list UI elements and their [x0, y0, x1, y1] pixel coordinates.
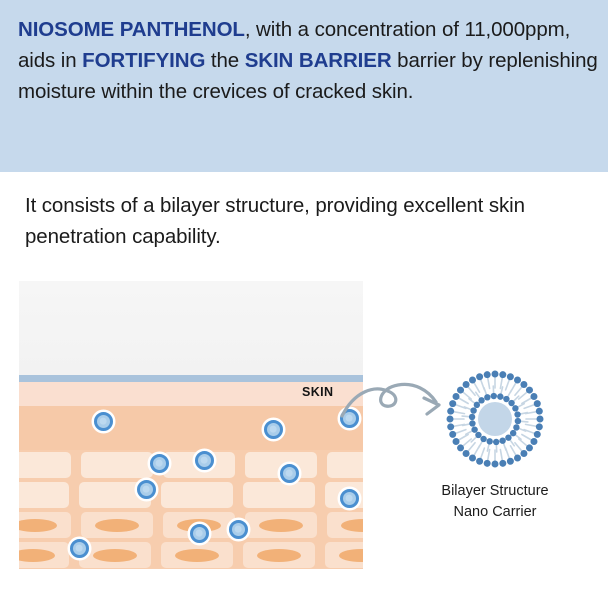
lipid-head [526, 387, 533, 394]
air-layer [19, 281, 363, 375]
nano-carrier-core [478, 402, 512, 436]
lipid-head [514, 377, 521, 384]
lipid-head [492, 371, 499, 378]
niosome-particle [264, 420, 283, 439]
lipid-head [530, 438, 537, 445]
cell-nucleus [93, 549, 137, 562]
lipid-head [536, 408, 543, 415]
nano-caption-line-2: Nano Carrier [400, 502, 590, 523]
lipid-head [520, 381, 527, 388]
lipid-head [484, 394, 490, 400]
lipid-head [484, 460, 491, 467]
nano-carrier-caption: Bilayer Structure Nano Carrier [400, 481, 590, 523]
lipid-head [463, 381, 470, 388]
nano-caption-line-1: Bilayer Structure [400, 481, 590, 502]
pointer-arrow-icon [340, 372, 456, 434]
lipid-head [476, 373, 483, 380]
skin-label: SKIN [302, 385, 333, 399]
lipid-head [457, 387, 464, 394]
lipid-head [507, 373, 514, 380]
headline-text: NIOSOME PANTHENOL, with a concentration … [18, 14, 604, 107]
niosome-particle [190, 524, 209, 543]
lipid-head [463, 450, 470, 457]
niosome-particle [195, 451, 214, 470]
lipid-head [508, 400, 514, 406]
niosome-particle [280, 464, 299, 483]
lipid-head [497, 393, 503, 399]
niosome-particle [340, 489, 359, 508]
lipid-head [536, 423, 543, 430]
lipid-head [469, 454, 476, 461]
lipid-head [476, 458, 483, 465]
lipid-head [486, 438, 492, 444]
skin-cell-brick [327, 452, 363, 478]
cell-nucleus [175, 549, 219, 562]
lipid-head [474, 402, 480, 408]
lipid-head [484, 371, 491, 378]
lipid-head [513, 424, 519, 430]
niosome-particle [137, 480, 156, 499]
lipid-head [492, 461, 499, 468]
skin-cross-section-diagram: SKIN [19, 281, 363, 569]
niosome-particle [150, 454, 169, 473]
skin-cell-brick [19, 482, 69, 508]
header-banner: NIOSOME PANTHENOL, with a concentration … [0, 0, 608, 172]
lipid-head [514, 454, 521, 461]
lipid-head [515, 418, 521, 424]
niosome-particle [94, 412, 113, 431]
niosome-particle [70, 539, 89, 558]
lipid-head [469, 420, 475, 426]
lipid-head [530, 393, 537, 400]
skin-cell-brick [19, 452, 71, 478]
lipid-head [526, 444, 533, 451]
subtext-paragraph: It consists of a bilayer structure, prov… [25, 190, 595, 252]
lipid-head [499, 460, 506, 467]
lipid-head [534, 431, 541, 438]
lipid-head [470, 407, 476, 413]
headline-segment-0: NIOSOME PANTHENOL [18, 18, 245, 41]
lipid-head [447, 408, 454, 415]
lipid-head [453, 393, 460, 400]
bilayer-nano-carrier-diagram [443, 367, 547, 471]
lipid-head [471, 426, 477, 432]
skin-cell-brick [81, 452, 153, 478]
lipid-head [499, 437, 505, 443]
headline-segment-3: the [205, 49, 244, 72]
lipid-head [469, 414, 475, 420]
skin-cell-brick [161, 482, 233, 508]
cell-nucleus [95, 519, 139, 532]
lipid-head [512, 405, 518, 411]
skin-cell-brick [243, 482, 315, 508]
lipid-head [499, 371, 506, 378]
lipid-head [520, 450, 527, 457]
epidermis-layer [19, 406, 363, 450]
lipid-head [478, 397, 484, 403]
lipid-head [503, 396, 509, 402]
lipid-head [475, 432, 481, 438]
lipid-head [449, 431, 456, 438]
lipid-head [453, 438, 460, 445]
lipid-head [507, 458, 514, 465]
lipid-head [469, 377, 476, 384]
lipid-head [493, 439, 499, 445]
lipid-head [510, 430, 516, 436]
lipid-head [505, 434, 511, 440]
lipid-head [514, 411, 520, 417]
lipid-head [480, 436, 486, 442]
headline-segment-2: FORTIFYING [82, 49, 205, 72]
niosome-particle [229, 520, 248, 539]
lipid-head [537, 416, 544, 423]
cell-nucleus [257, 549, 301, 562]
cell-nucleus [259, 519, 303, 532]
lipid-head [491, 393, 497, 399]
headline-segment-4: SKIN BARRIER [245, 49, 392, 72]
lipid-head [447, 423, 454, 430]
lipid-head [449, 400, 456, 407]
skin-surface-line [19, 375, 363, 382]
lipid-head [457, 444, 464, 451]
lipid-head [447, 416, 454, 423]
lipid-head [534, 400, 541, 407]
